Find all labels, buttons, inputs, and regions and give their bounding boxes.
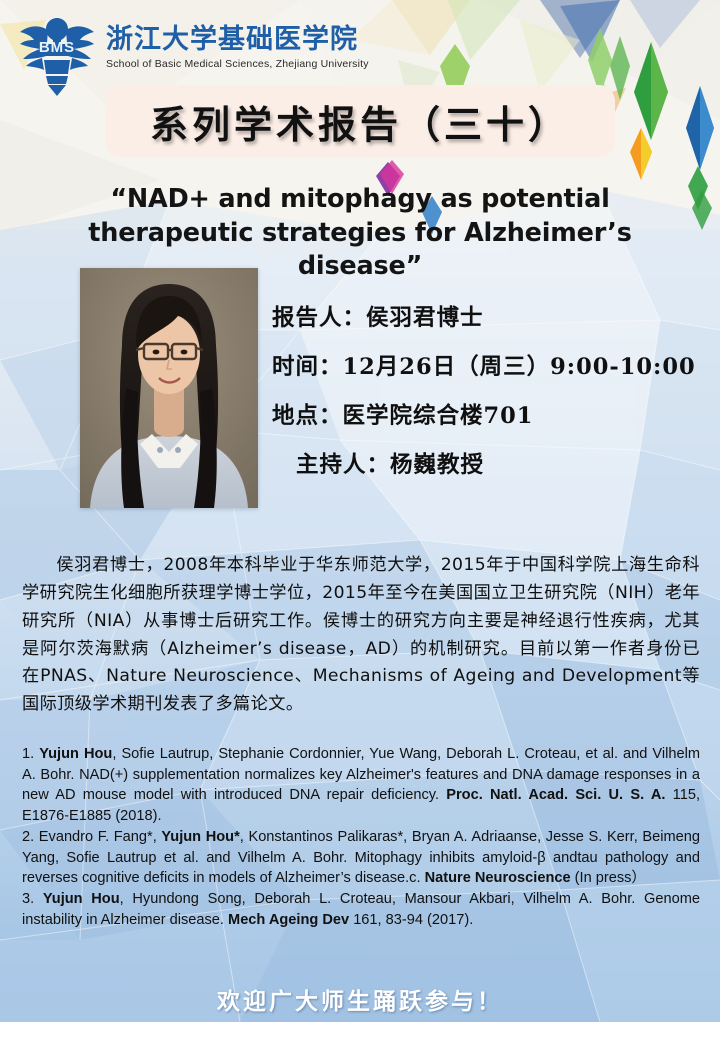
ref-journal: Proc. Natl. Acad. Sci. U. S. A.: [446, 787, 665, 803]
ref-tail: 161, 83-94 (2017).: [349, 912, 473, 928]
org-name-en: School of Basic Medical Sciences, Zhejia…: [106, 58, 369, 70]
svg-text:BMS: BMS: [39, 39, 75, 56]
event-details: 报告人：侯羽君博士 时间：12月26日（周三）9:00-10:00 地点：医学院…: [272, 300, 702, 496]
ref-tail: (In press）: [571, 870, 646, 886]
speaker-portrait: [80, 268, 258, 508]
ref-journal: Mech Ageing Dev: [228, 912, 349, 928]
ref-pre: Evandro F. Fang*,: [34, 829, 161, 845]
welcome-footer: 欢迎广大师生踊跃参与！: [0, 982, 720, 1016]
ref-bold-author: Yujun Hou*: [161, 829, 239, 845]
ref-bold-author: Yujun Hou: [39, 746, 112, 762]
series-title-cn: 系列学术报告（三十）: [105, 85, 615, 157]
poster-root: BMS 浙江大学基础医学院 School of Basic Medical Sc…: [0, 0, 720, 1040]
time-line: 时间：12月26日（周三）9:00-10:00: [272, 349, 702, 381]
ref-journal: Nature Neuroscience: [425, 870, 571, 886]
reference-item: 3. Yujun Hou, Hyundong Song, Deborah L. …: [22, 889, 700, 930]
org-name-cn: 浙江大学基础医学院: [106, 26, 369, 53]
ref-number: 3.: [22, 891, 34, 907]
speaker-bio-text: 侯羽君博士，2008年本科毕业于华东师范大学，2015年于中国科学院上海生命科学…: [22, 552, 700, 719]
talk-title-line1: “NAD+ and mitophagy as potential: [30, 183, 690, 217]
ref-number: 1.: [22, 746, 34, 762]
ref-number: 2.: [22, 829, 34, 845]
publication-list: 1. Yujun Hou, Sofie Lautrup, Stephanie C…: [22, 744, 700, 930]
reference-item: 1. Yujun Hou, Sofie Lautrup, Stephanie C…: [22, 744, 700, 827]
reference-item: 2. Evandro F. Fang*, Yujun Hou*, Konstan…: [22, 827, 700, 889]
speaker-bio: 侯羽君博士，2008年本科毕业于华东师范大学，2015年于中国科学院上海生命科学…: [22, 552, 700, 719]
speaker-line: 报告人：侯羽君博士: [272, 300, 702, 332]
eagle-bms-logo-icon: BMS: [18, 14, 96, 96]
logo-block: BMS 浙江大学基础医学院 School of Basic Medical Sc…: [18, 14, 369, 96]
ref-bold-author: Yujun Hou: [43, 891, 120, 907]
ref-pre: [34, 891, 43, 907]
location-line: 地点：医学院综合楼701: [272, 398, 702, 430]
portrait-photo: [80, 268, 258, 508]
host-line: 主持人：杨巍教授: [272, 447, 702, 479]
bottom-white-strip: [0, 1022, 720, 1040]
